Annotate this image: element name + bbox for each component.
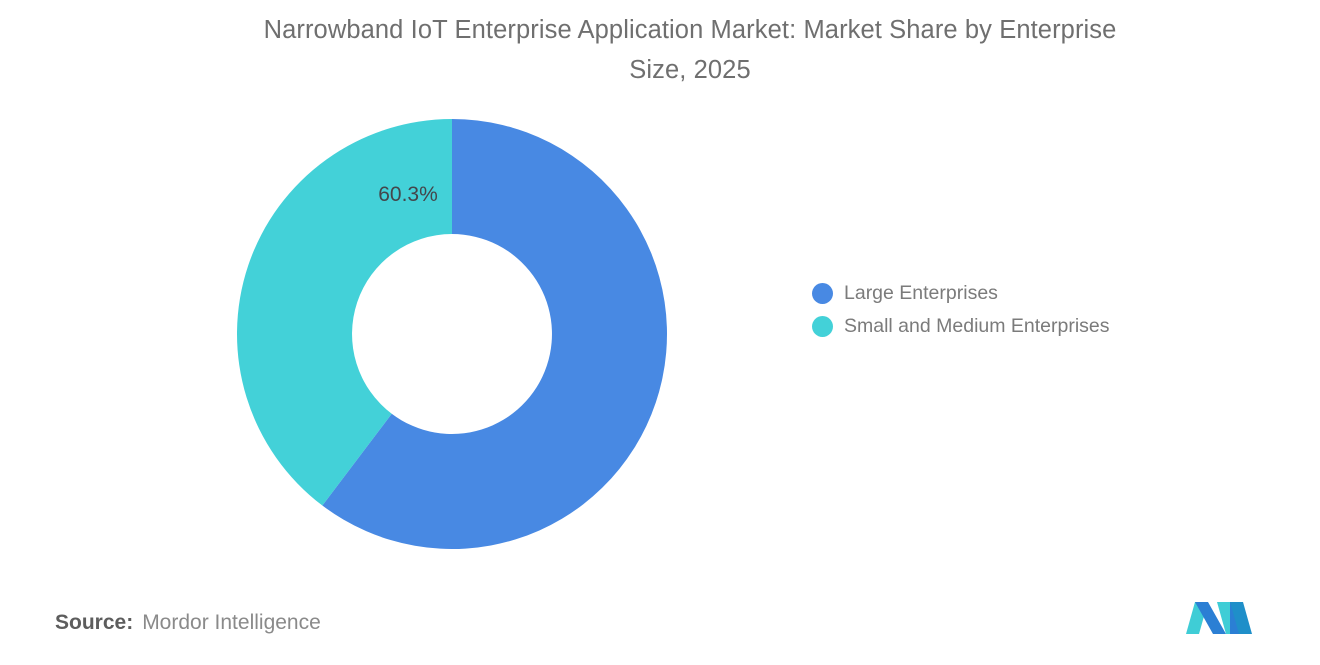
mordor-intelligence-logo-icon [1186, 598, 1252, 638]
circle-swatch-icon [812, 283, 833, 304]
logo-svg [1186, 598, 1252, 638]
chart-title-line-2: Size, 2025 [160, 50, 1220, 90]
chart-title-line-1: Narrowband IoT Enterprise Application Ma… [160, 10, 1220, 50]
source-label: Source: [55, 611, 133, 635]
legend-item-label: Large Enterprises [844, 282, 998, 305]
donut-chart: 60.3% [237, 119, 667, 549]
legend-item-small-and-medium-enterprises[interactable]: Small and Medium Enterprises [812, 315, 1110, 338]
source-line: Source: Mordor Intelligence [55, 611, 321, 635]
chart-title: Narrowband IoT Enterprise Application Ma… [160, 10, 1220, 90]
donut-chart-svg [237, 119, 667, 549]
legend-item-label: Small and Medium Enterprises [844, 315, 1110, 338]
chart-legend: Large Enterprises Small and Medium Enter… [812, 282, 1110, 338]
source-value: Mordor Intelligence [142, 611, 321, 635]
donut-slice-group [237, 119, 667, 549]
legend-item-large-enterprises[interactable]: Large Enterprises [812, 282, 1110, 305]
circle-swatch-icon [812, 316, 833, 337]
